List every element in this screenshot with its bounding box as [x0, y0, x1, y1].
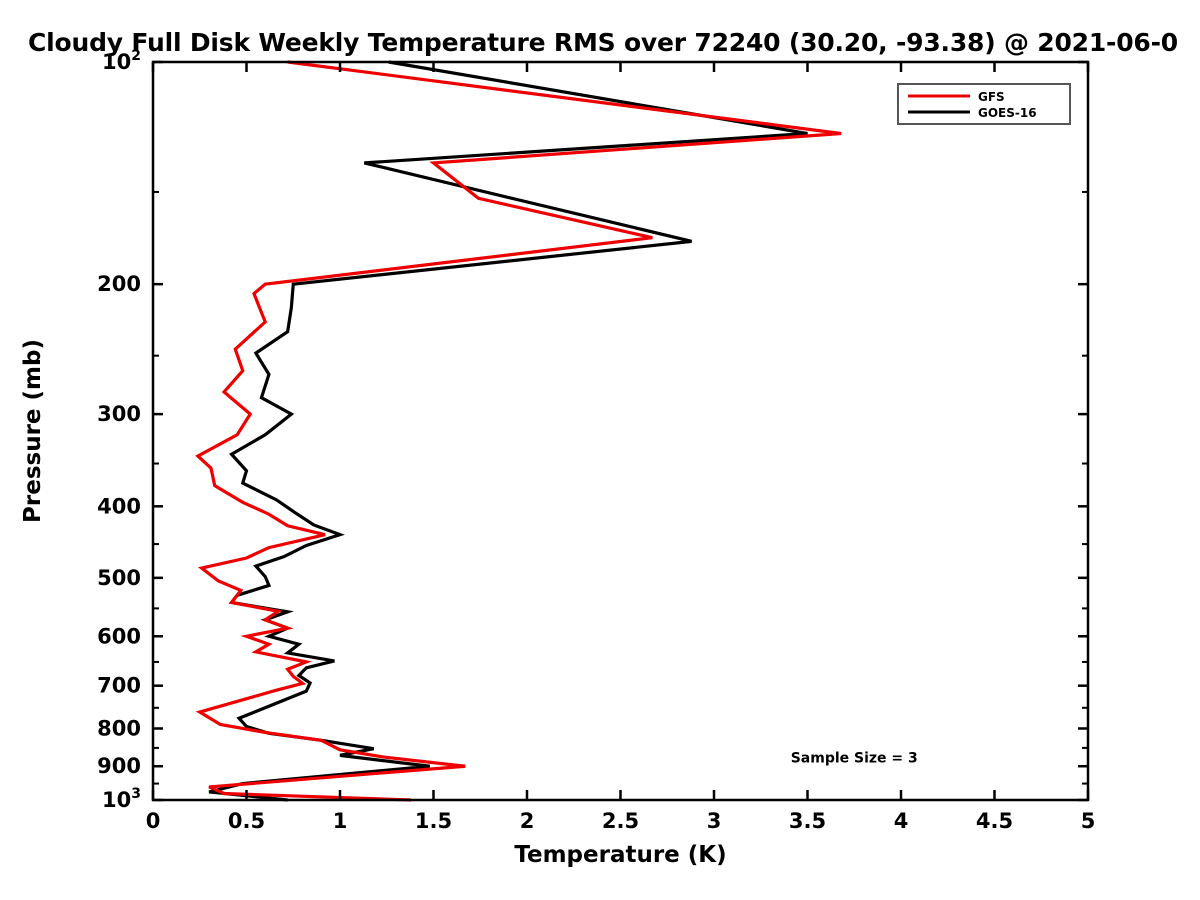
x-tick-label: 5	[1081, 809, 1096, 833]
x-tick-label: 2	[520, 809, 535, 833]
axes-layer	[153, 62, 1088, 800]
axis-labels-layer: 00.511.522.533.544.551022003004005006007…	[20, 48, 1095, 868]
y-tick-base: 10	[102, 788, 131, 812]
y-tick-label: 400	[97, 494, 141, 518]
chart-plot-area: 00.511.522.533.544.551022003004005006007…	[0, 0, 1200, 900]
x-tick-label: 0	[146, 809, 161, 833]
axis-frame	[153, 62, 1088, 800]
x-tick-label: 1.5	[415, 809, 452, 833]
y-tick-exponent: 2	[131, 48, 141, 64]
x-tick-label: 4	[894, 809, 909, 833]
ticks-layer	[153, 62, 1088, 800]
x-tick-label: 1	[333, 809, 348, 833]
y-tick-label: 900	[97, 754, 141, 778]
y-tick-label: 200	[97, 272, 141, 296]
y-tick-label: 800	[97, 716, 141, 740]
sample-size-annotation: Sample Size = 3	[791, 751, 918, 767]
x-tick-label: 4.5	[976, 809, 1013, 833]
y-tick-label: 500	[97, 566, 141, 590]
series-line-goes-16	[209, 62, 807, 800]
y-axis-title: Pressure (mb)	[20, 339, 46, 523]
chart-legend[interactable]: GFSGOES-16	[898, 84, 1070, 124]
y-tick-label: 103	[102, 786, 141, 812]
x-tick-label: 3.5	[789, 809, 826, 833]
x-axis-title: Temperature (K)	[514, 842, 726, 868]
x-tick-label: 2.5	[602, 809, 639, 833]
chart-figure: Cloudy Full Disk Weekly Temperature RMS …	[0, 0, 1200, 900]
y-tick-exponent: 3	[131, 786, 141, 802]
y-tick-base: 10	[102, 50, 131, 74]
legend-label-goes-16: GOES-16	[978, 106, 1037, 120]
annotations-layer: Sample Size = 3	[791, 751, 918, 767]
legend-label-gfs: GFS	[978, 90, 1005, 104]
y-tick-label: 300	[97, 402, 141, 426]
series-layer	[198, 62, 841, 800]
y-tick-label: 700	[97, 674, 141, 698]
y-tick-label: 102	[102, 48, 141, 74]
x-tick-label: 0.5	[228, 809, 265, 833]
x-tick-label: 3	[707, 809, 722, 833]
series-line-gfs	[198, 62, 841, 800]
y-tick-label: 600	[97, 624, 141, 648]
